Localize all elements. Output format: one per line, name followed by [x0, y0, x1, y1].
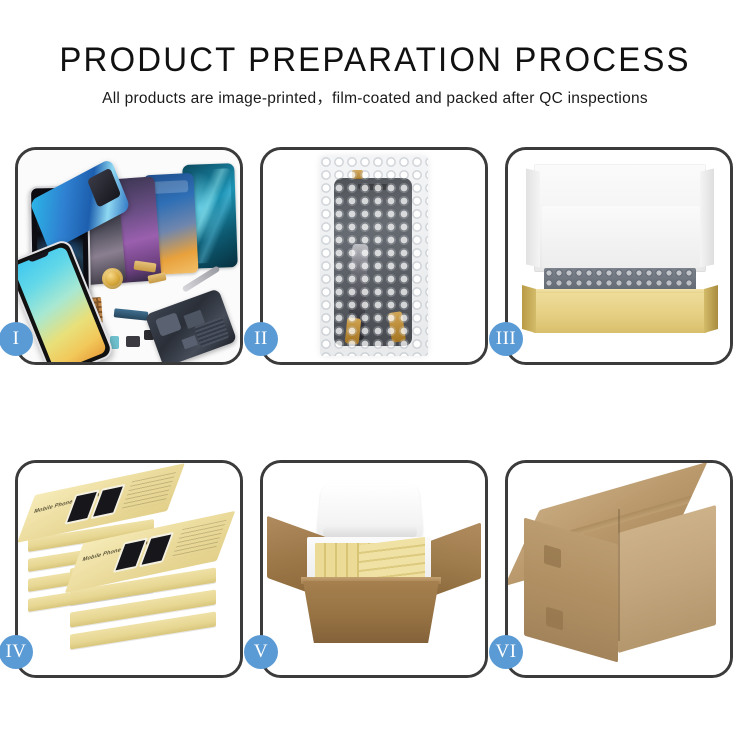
step-1-image	[18, 150, 240, 362]
process-step-panel-1[interactable]: I	[15, 147, 243, 365]
step-3-image	[508, 150, 730, 362]
copper-coil-part	[102, 268, 123, 289]
step-numeral-badge-1: I	[0, 322, 33, 356]
process-step-panel-4[interactable]: Mobile Phone Spare Parts Mobile Phone Sp…	[15, 460, 243, 678]
gold-connector-3	[352, 170, 363, 179]
product-preparation-infographic: PRODUCT PREPARATION PROCESS All products…	[0, 0, 750, 750]
box-print-text-lines-back	[121, 472, 176, 512]
page-subtitle: All products are image-printed，film-coat…	[0, 80, 750, 109]
step-2-image	[263, 150, 485, 362]
carton-front-face	[303, 581, 439, 643]
process-step-panel-6[interactable]: VI	[505, 460, 733, 678]
yellow-box-front	[532, 293, 708, 333]
step-5-image	[263, 463, 485, 675]
step-numeral-badge-2: II	[244, 322, 278, 356]
step-numeral-badge-4: IV	[0, 635, 33, 669]
process-step-panel-3[interactable]: III	[505, 147, 733, 365]
bubble-wrap-package	[320, 156, 428, 356]
white-foam-sheet	[542, 206, 700, 268]
box-print-text-lines-front	[171, 520, 226, 560]
step-6-image	[508, 463, 730, 675]
foam-lid-open	[316, 484, 424, 541]
step-4-image: Mobile Phone Spare Parts Mobile Phone Sp…	[18, 463, 240, 675]
disassembled-phone-chassis	[145, 288, 237, 362]
process-step-panel-2[interactable]: II	[260, 147, 488, 365]
gold-connector-1	[345, 317, 362, 344]
header: PRODUCT PREPARATION PROCESS All products…	[0, 0, 750, 109]
flex-cable-part-c	[114, 308, 149, 321]
carton-corner-seam	[618, 509, 620, 641]
chip-part-3	[126, 336, 140, 347]
process-step-grid: I II	[15, 147, 735, 678]
step-numeral-badge-3: III	[489, 322, 523, 356]
step-numeral-badge-5: V	[244, 635, 278, 669]
step-numeral-badge-6: VI	[489, 635, 523, 669]
box-stack: Mobile Phone Spare Parts Mobile Phone Sp…	[26, 485, 232, 661]
page-title: PRODUCT PREPARATION PROCESS	[11, 0, 739, 80]
process-step-panel-5[interactable]: V	[260, 460, 488, 678]
